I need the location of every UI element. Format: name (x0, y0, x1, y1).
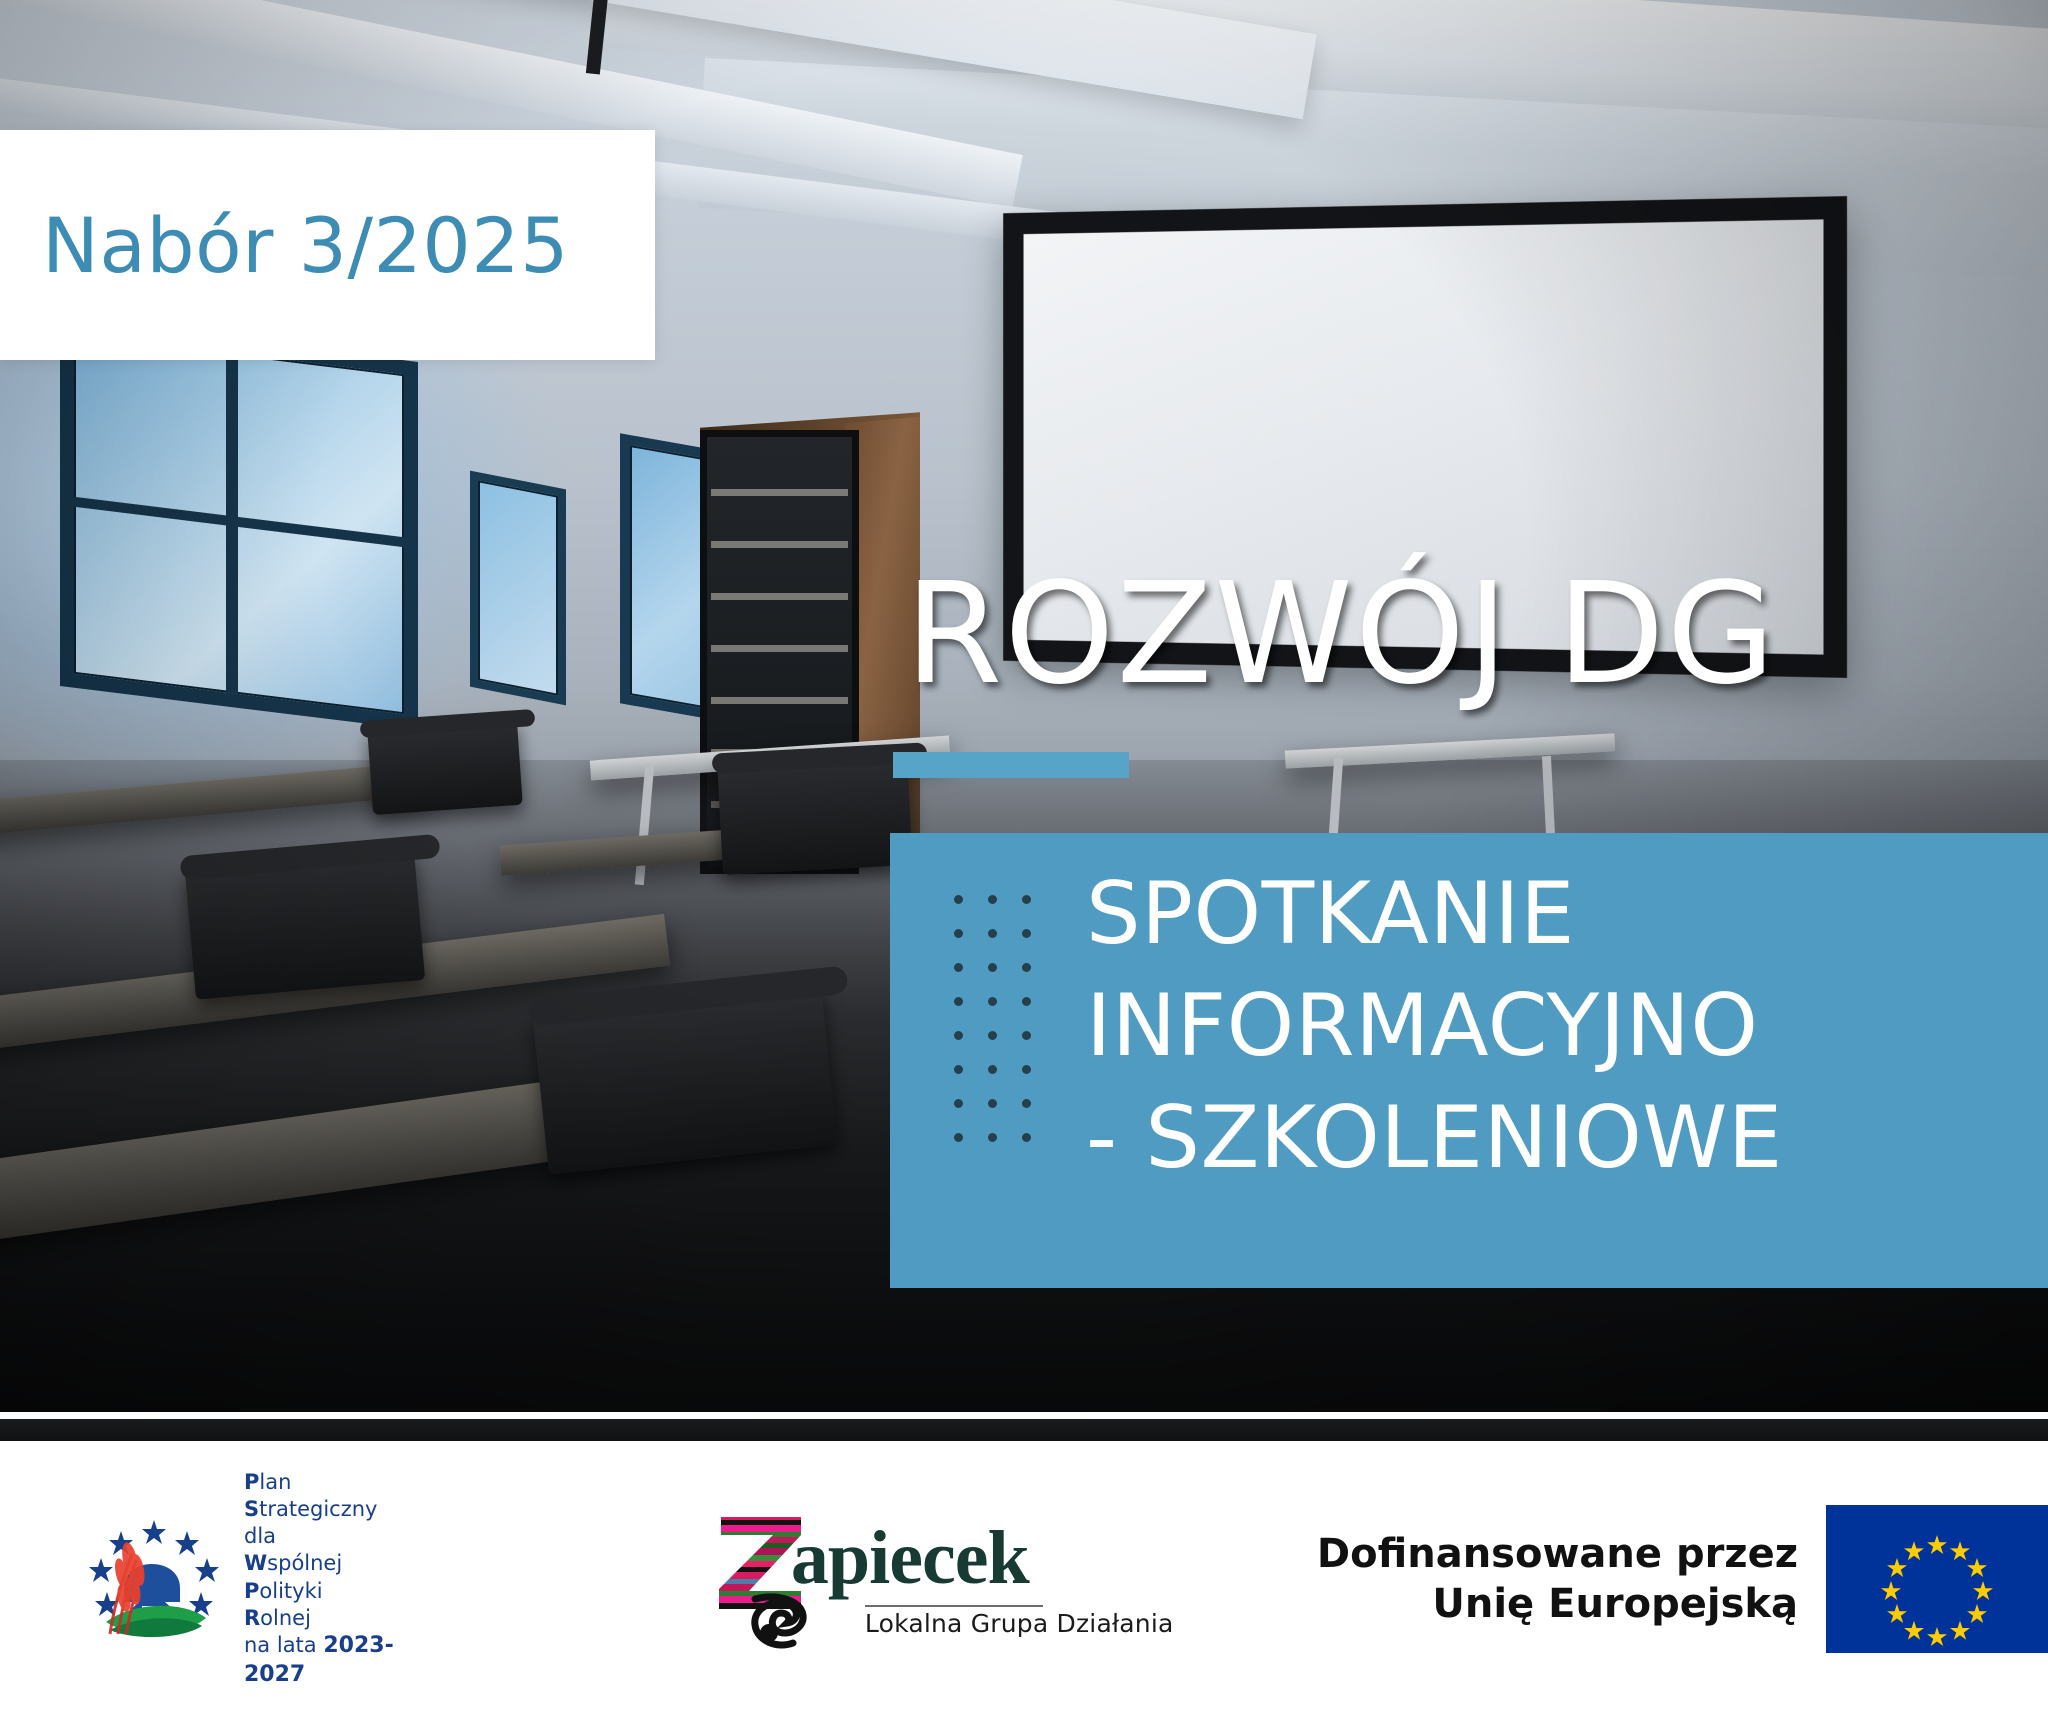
logo-european-union: Dofinansowane przez Unię Europejską (1317, 1505, 2048, 1653)
nabor-badge-label: Nabór 3/2025 (42, 201, 569, 290)
nabor-badge: Nabór 3/2025 (0, 130, 655, 360)
wpr-logo-text: Plan Strategiczny dla Wspólnej Polityki … (244, 1469, 415, 1690)
subtitle-line-3: - SZKOLENIOWE (1086, 1083, 2038, 1195)
zapiecek-divider (865, 1605, 1043, 1607)
wpr-line-3: spólnej (267, 1551, 342, 1575)
subtitle-line-1: SPOTKANIE (1086, 859, 2038, 971)
wpr-line-4-bold: P (244, 1579, 259, 1603)
separator-white (0, 1412, 2048, 1419)
wpr-years-prefix: na lata (244, 1633, 323, 1657)
page-title: ROZWÓJ DG (905, 565, 1777, 705)
wpr-line-1-bold: P (244, 1470, 259, 1494)
subtitle-text: SPOTKANIE INFORMACYJNO - SZKOLENIOWE (1086, 859, 2038, 1194)
wpr-emblem-icon (70, 1514, 230, 1644)
wpr-line-5: olnej (260, 1606, 311, 1630)
footer-logo-bar: Plan Strategiczny dla Wspólnej Polityki … (0, 1441, 2048, 1717)
wpr-line-3-bold: W (244, 1551, 267, 1575)
eu-funding-line-2: Unię Europejską (1317, 1579, 1798, 1629)
wpr-line-2-bold: S (244, 1497, 259, 1521)
separator-dark (0, 1419, 2048, 1441)
poster-root: Nabór 3/2025 ROZWÓJ DG SPOTKANIE INFORMA… (0, 0, 2048, 1717)
classroom-photo: Nabór 3/2025 ROZWÓJ DG SPOTKANIE INFORMA… (0, 0, 2048, 1412)
wpr-line-1: lan (259, 1470, 291, 1494)
eu-funding-line-1: Dofinansowane przez (1317, 1529, 1798, 1579)
eu-funding-text: Dofinansowane przez Unię Europejską (1317, 1529, 1798, 1629)
accent-bar (893, 752, 1129, 778)
subtitle-line-2: INFORMACYJNO (1086, 971, 2038, 1083)
zapiecek-wordmark: apiecek (791, 1515, 1029, 1602)
zapiecek-subtitle: Lokalna Grupa Działania (865, 1609, 1174, 1638)
wpr-line-2: trategiczny dla (244, 1497, 378, 1548)
wpr-line-5-bold: R (244, 1606, 260, 1630)
wpr-line-4: olityki (259, 1579, 322, 1603)
eu-flag-icon (1826, 1505, 2048, 1653)
logo-zapiecek: apiecek Lokalna Grupa Działania (715, 1509, 1045, 1649)
logo-plan-strategiczny: Plan Strategiczny dla Wspólnej Polityki … (70, 1469, 415, 1690)
subtitle-panel: SPOTKANIE INFORMACYJNO - SZKOLENIOWE (890, 833, 2048, 1288)
dot-grid-decoration (954, 895, 1056, 1167)
